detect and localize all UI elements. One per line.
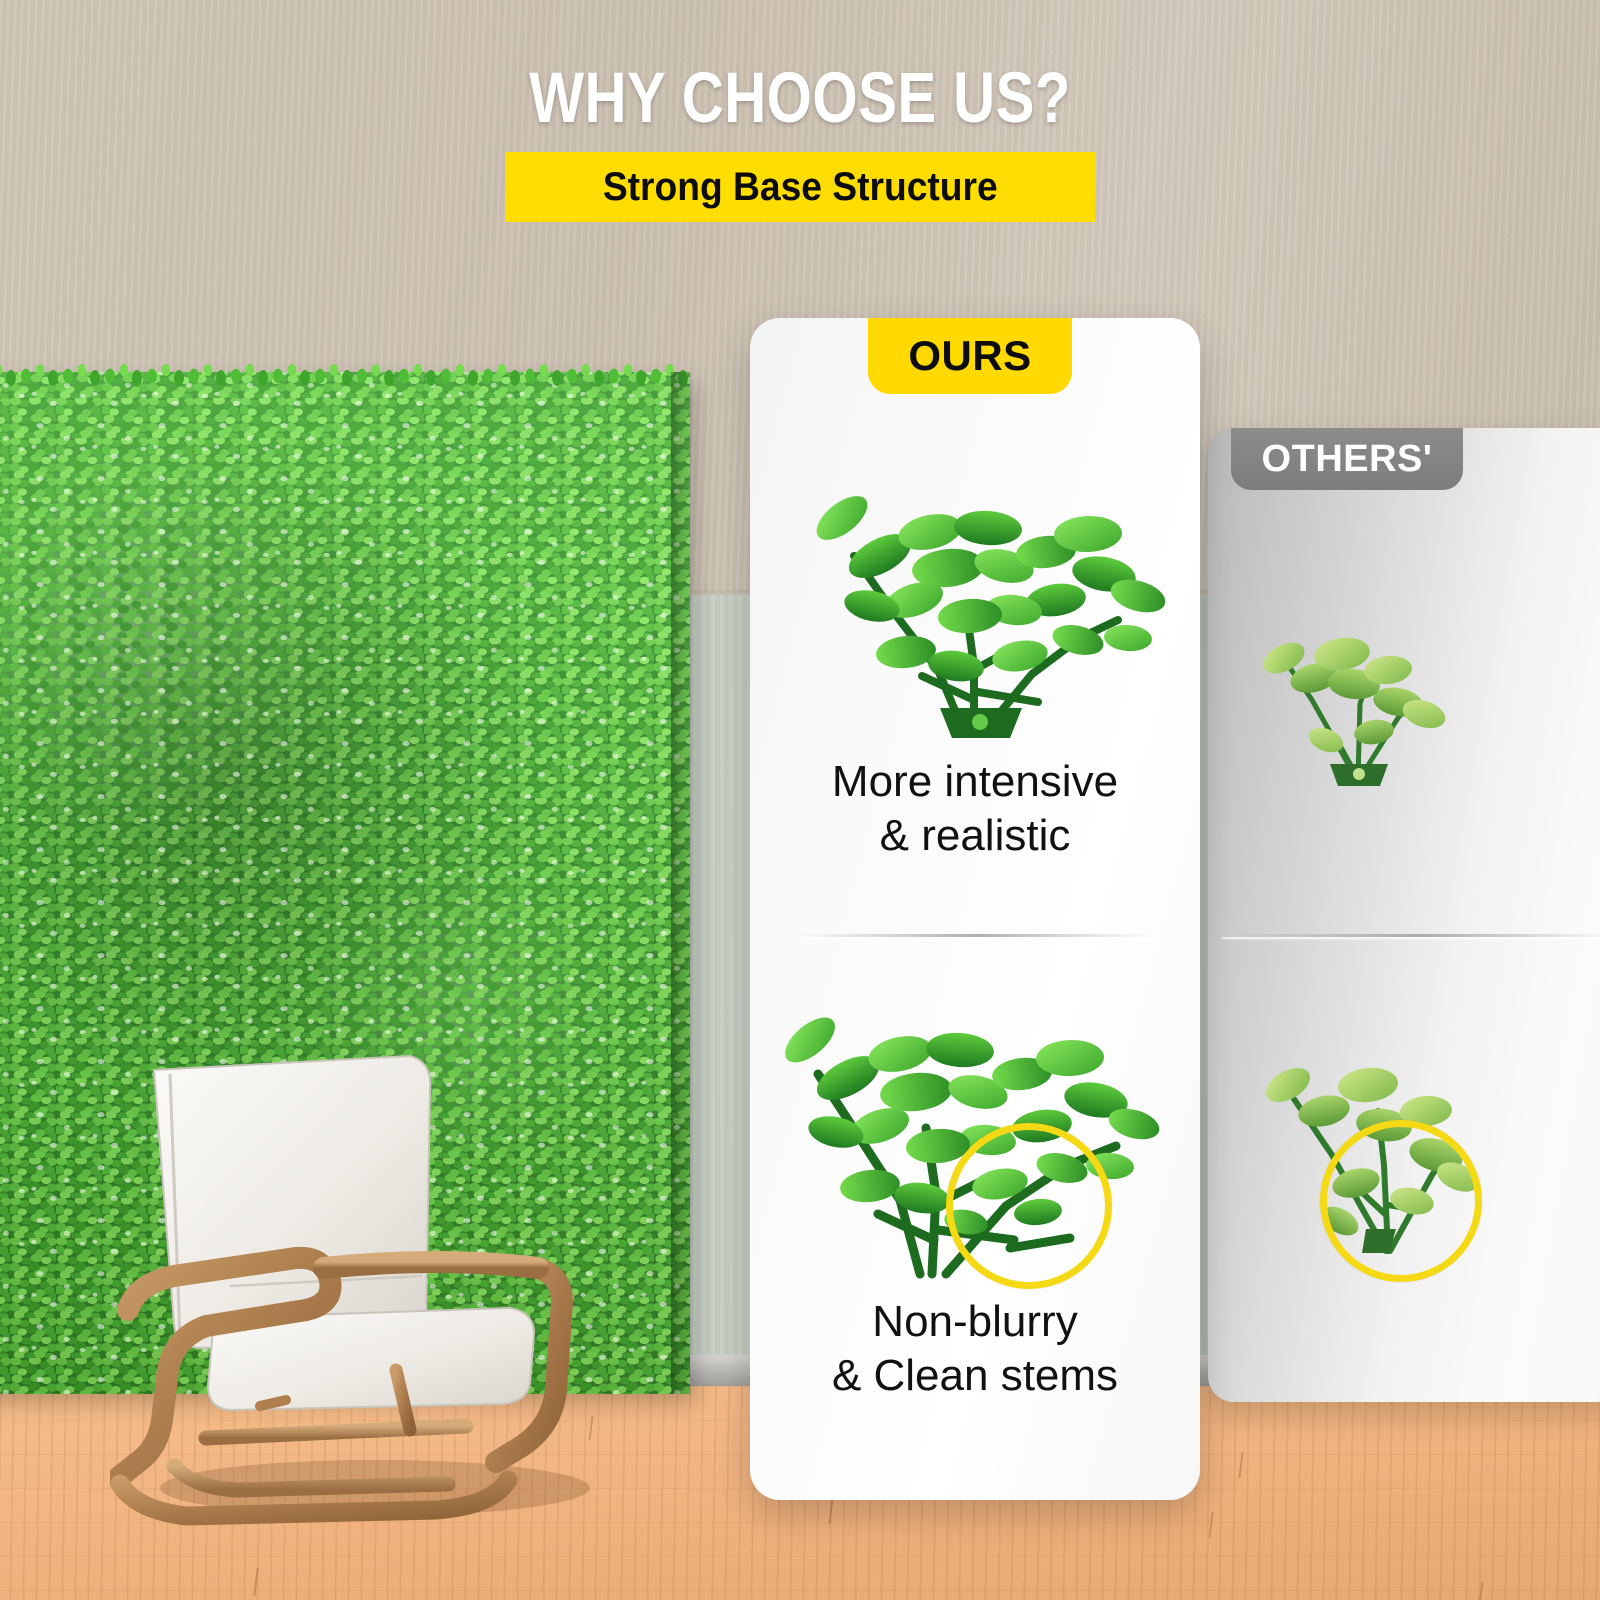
ours-plant-image-top [788, 470, 1168, 740]
ours-badge-label: OURS [908, 332, 1031, 380]
bentwood-rocking-chair [110, 1018, 630, 1538]
others-badge-label: OTHERS' [1262, 438, 1433, 481]
subtitle-banner: Strong Base Structure [505, 152, 1095, 222]
ours-zoom-highlight-ring [946, 1123, 1112, 1289]
hedge-top-fringe [0, 358, 690, 388]
others-row-divider [1222, 934, 1600, 937]
others-plant-image-top [1238, 592, 1468, 792]
ours-caption-row-1: More intensive & realistic [750, 755, 1200, 862]
ours-caption-row-2-line-2: & Clean stems [750, 1349, 1200, 1403]
ours-caption-row-2: Non-blurry & Clean stems [750, 1295, 1200, 1402]
ours-caption-row-2-line-1: Non-blurry [750, 1295, 1200, 1349]
chair-stretcher [206, 1426, 466, 1438]
ours-row-divider [800, 934, 1152, 937]
page-title: WHY CHOOSE US? [144, 58, 1456, 139]
subtitle-text: Strong Base Structure [603, 165, 998, 210]
ours-caption-row-1-line-2: & realistic [750, 809, 1200, 863]
others-zoom-highlight-ring [1320, 1120, 1482, 1282]
others-badge: OTHERS' [1231, 428, 1463, 490]
hedge-right-edge [671, 372, 691, 1394]
ours-badge: OURS [868, 318, 1072, 394]
ours-caption-row-1-line-1: More intensive [750, 755, 1200, 809]
